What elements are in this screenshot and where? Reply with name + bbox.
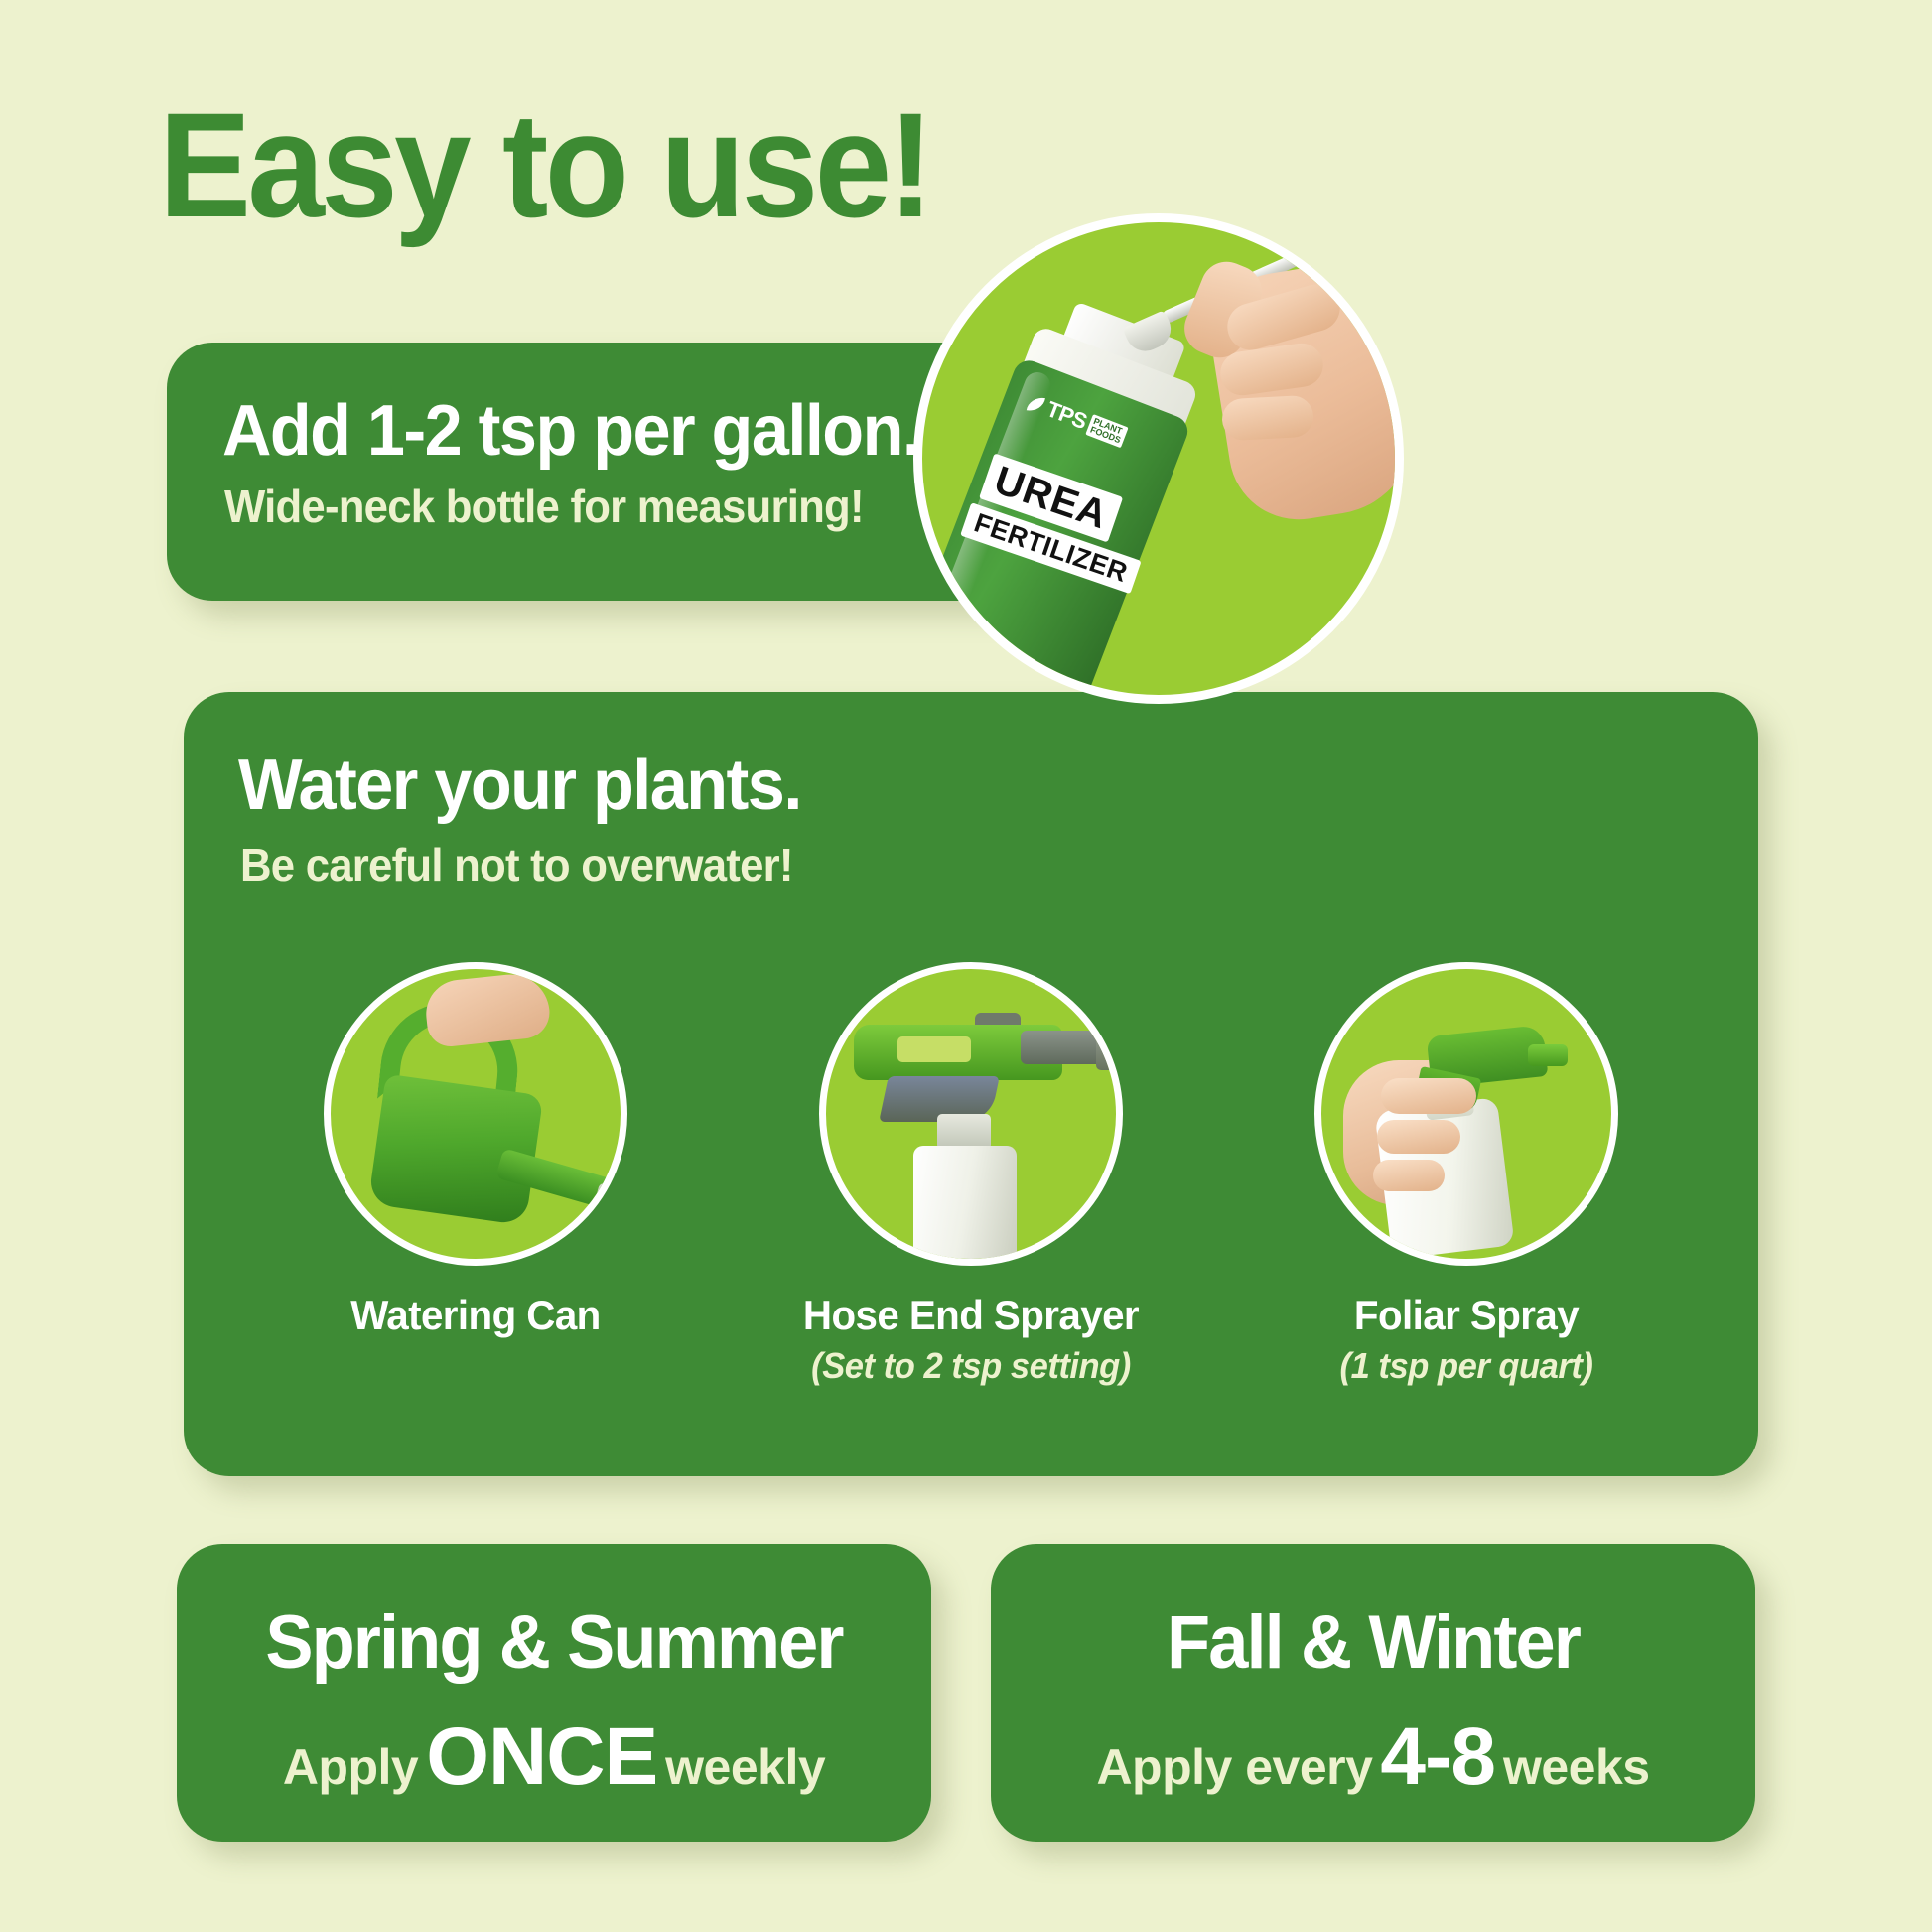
- frequency-suffix-spring: weekly: [665, 1739, 825, 1795]
- hose-end-sprayer-icon: [819, 962, 1123, 1266]
- leaf-icon: [1027, 395, 1045, 412]
- tool-hose-end-sprayer: Hose End Sprayer (Set to 2 tsp setting): [762, 962, 1179, 1387]
- step-heading-add-dose: Add 1-2 tsp per gallon.: [222, 390, 919, 472]
- tool-row: Watering Can Hose End Sprayer (Set to 2 …: [228, 962, 1714, 1387]
- frequency-emphasis-fall: 4-8: [1372, 1712, 1503, 1802]
- frequency-prefix-fall: Apply every: [1096, 1739, 1372, 1795]
- frequency-prefix-spring: Apply: [283, 1739, 418, 1795]
- spray-nozzle-shape: [1528, 1044, 1568, 1066]
- season-card-spring-summer: Spring & Summer ApplyONCEweekly: [177, 1544, 931, 1842]
- tool-note-hose-end-sprayer: (Set to 2 tsp setting): [770, 1345, 1171, 1387]
- step-heading-water-plants: Water your plants.: [238, 745, 801, 826]
- step-subtitle-add-dose: Wide-neck bottle for measuring!: [224, 480, 864, 533]
- step-card-water-plants: Water your plants. Be careful not to ove…: [184, 692, 1758, 1476]
- tool-label-hose-end-sprayer: Hose End Sprayer: [770, 1292, 1171, 1339]
- foliar-spray-icon: [1314, 962, 1618, 1266]
- watering-can-body-shape: [368, 1074, 544, 1226]
- tool-label-watering-can: Watering Can: [276, 1292, 676, 1339]
- finger-shape: [1373, 1160, 1445, 1191]
- step-subtitle-water-plants: Be careful not to overwater!: [240, 838, 793, 892]
- season-frequency-fall-winter: Apply every4-8weeks: [991, 1711, 1755, 1804]
- frequency-emphasis-spring: ONCE: [418, 1712, 665, 1802]
- hand-shape: [423, 971, 552, 1049]
- season-title-spring-summer: Spring & Summer: [196, 1599, 912, 1686]
- frequency-suffix-fall: weeks: [1503, 1739, 1650, 1795]
- finger-shape: [1381, 1078, 1476, 1114]
- sprayer-bottle-shape: [913, 1146, 1017, 1266]
- infographic-page: Easy to use! Add 1-2 tsp per gallon. Wid…: [0, 0, 1932, 1932]
- season-card-fall-winter: Fall & Winter Apply every4-8weeks: [991, 1544, 1755, 1842]
- page-title: Easy to use!: [159, 87, 930, 244]
- season-frequency-spring-summer: ApplyONCEweekly: [177, 1711, 931, 1804]
- urea-fertilizer-bottle: TPS PLANT FOODS UREA FERTILIZER: [913, 356, 1192, 704]
- tool-label-foliar-spray: Foliar Spray: [1266, 1292, 1666, 1339]
- sprayer-neck-shape: [937, 1114, 991, 1150]
- finger-shape: [1377, 1120, 1460, 1154]
- product-bottle-photo: TPS PLANT FOODS UREA FERTILIZER: [913, 213, 1404, 704]
- finger-shape: [1221, 395, 1314, 442]
- season-title-fall-winter: Fall & Winter: [1010, 1599, 1736, 1686]
- tool-foliar-spray: Foliar Spray (1 tsp per quart): [1258, 962, 1675, 1387]
- tool-watering-can: Watering Can: [267, 962, 684, 1345]
- watering-can-icon: [324, 962, 627, 1266]
- sprayer-barrel-tip-shape: [1096, 1025, 1123, 1070]
- sprayer-window-shape: [897, 1036, 971, 1062]
- tool-note-foliar-spray: (1 tsp per quart): [1266, 1345, 1666, 1387]
